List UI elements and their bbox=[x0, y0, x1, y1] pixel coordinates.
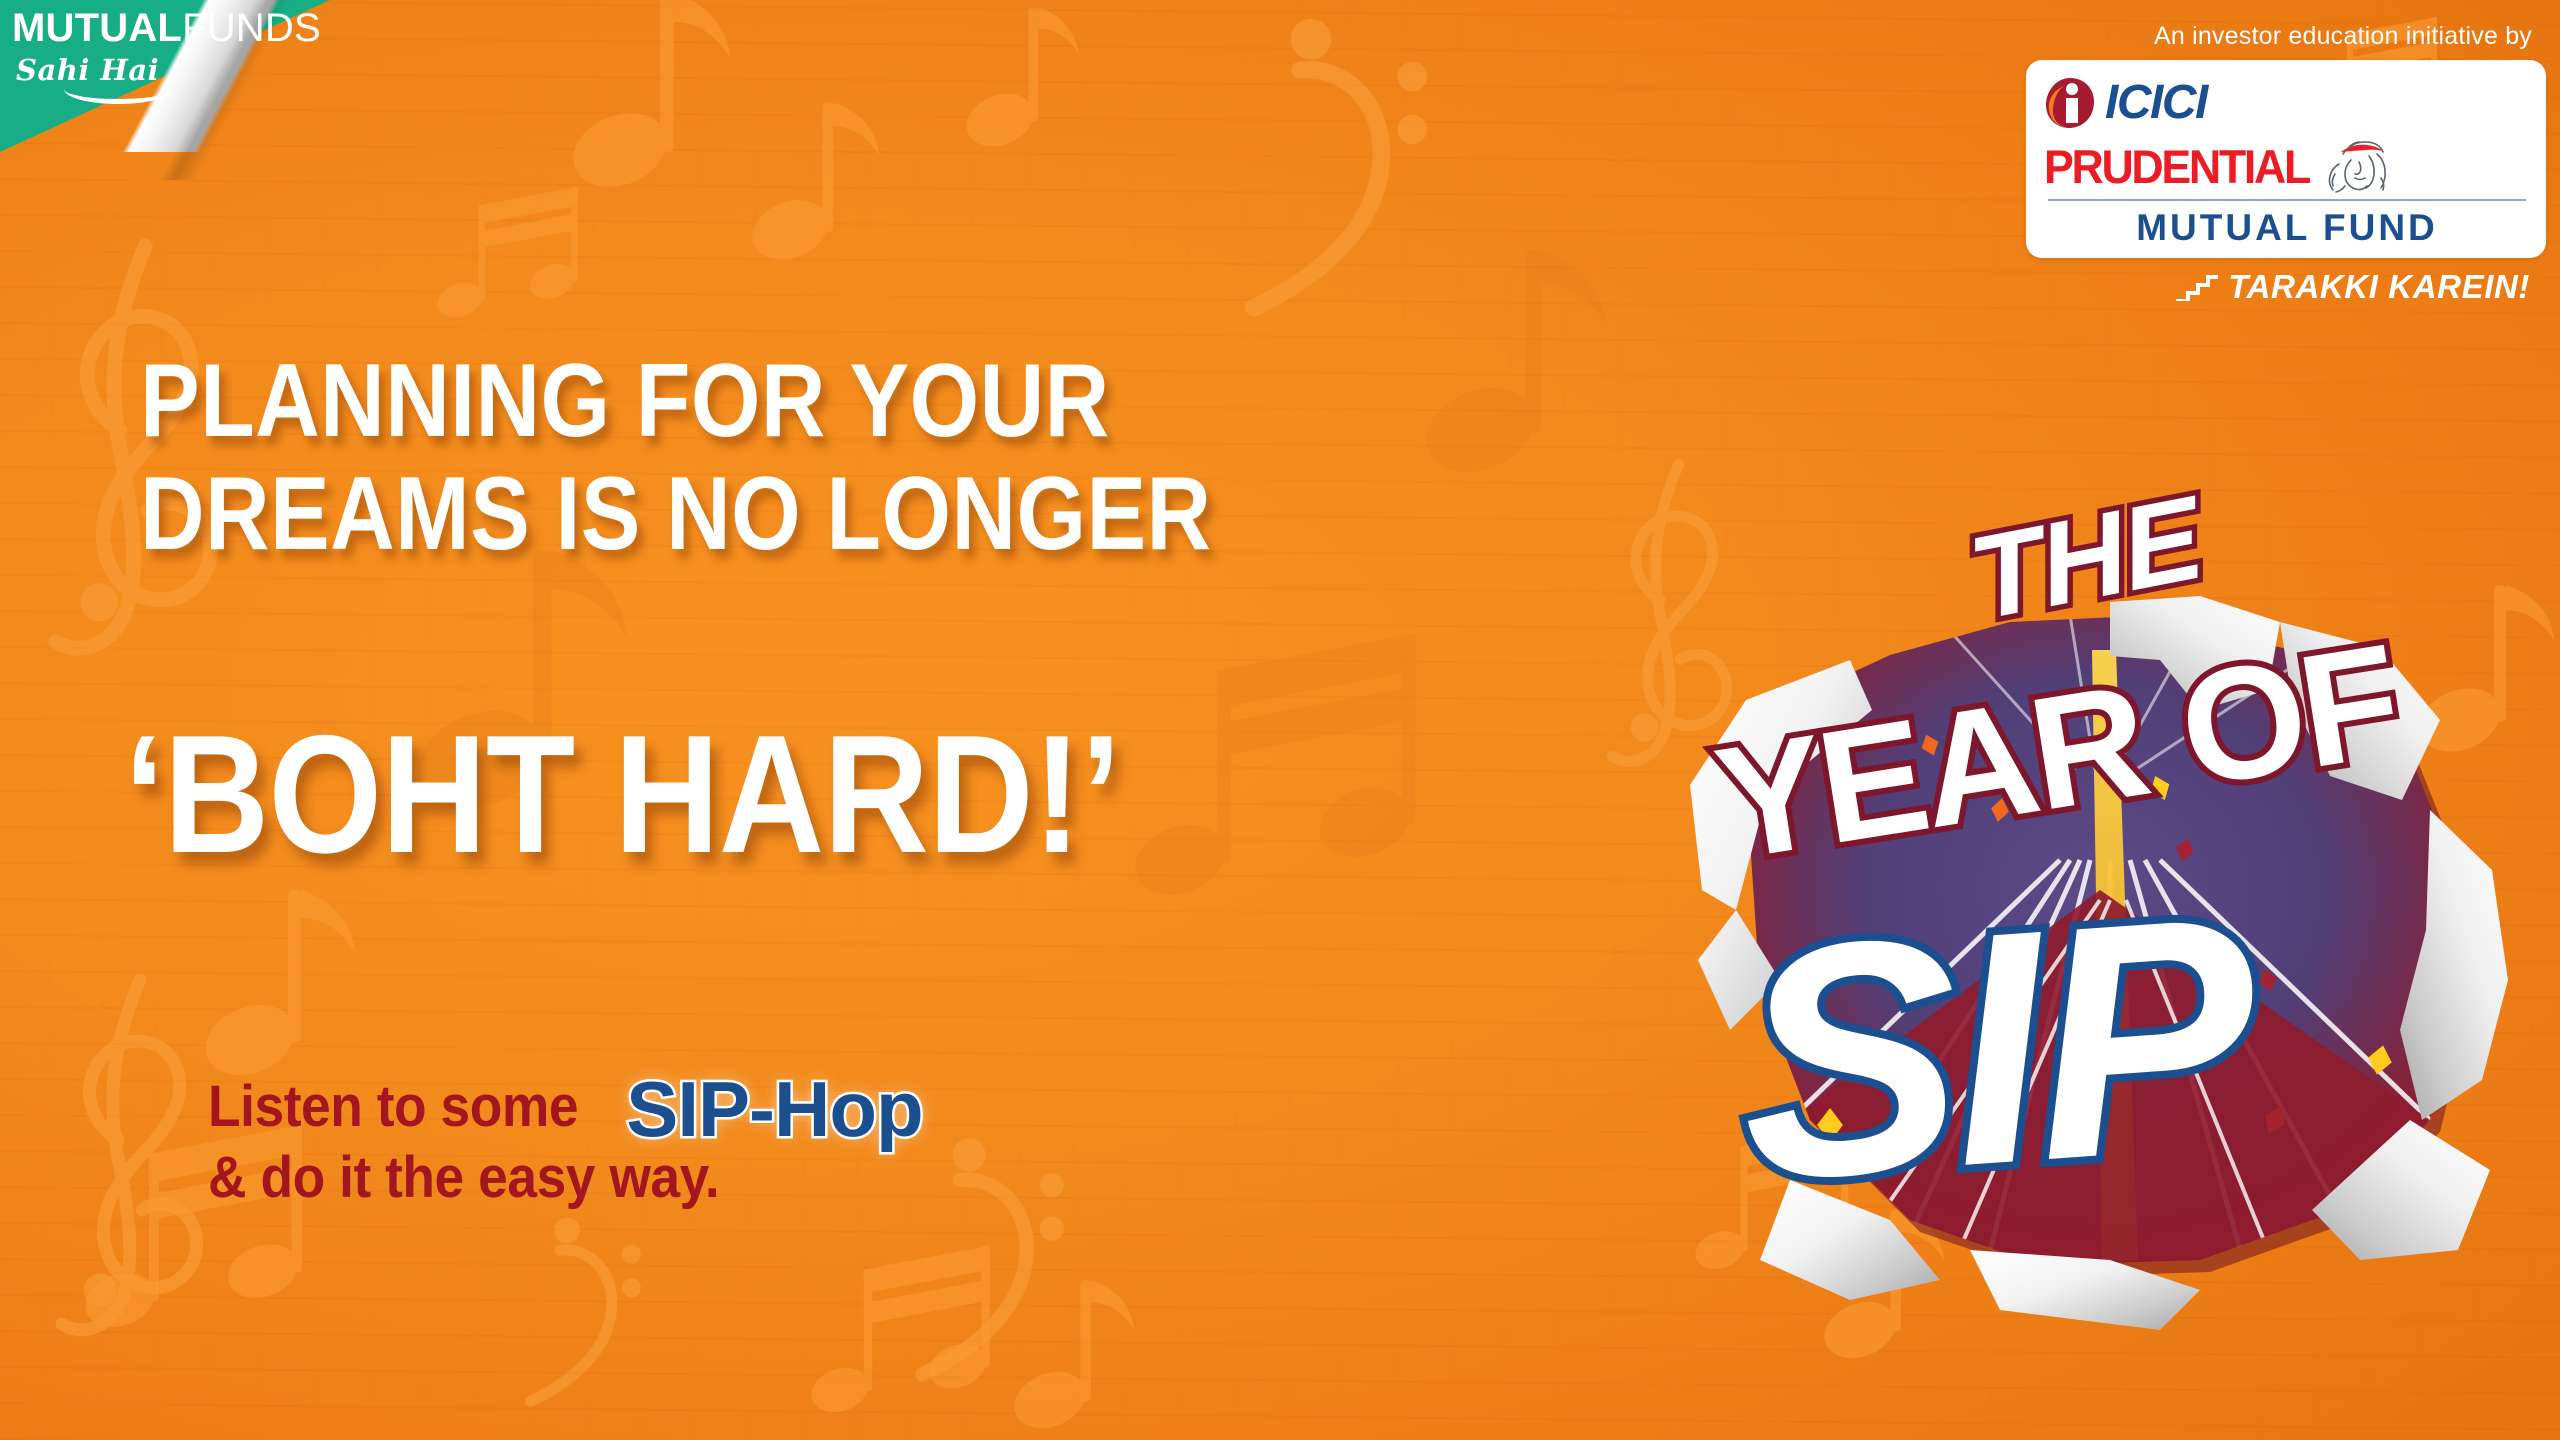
prudential-wordmark: PRUDENTIAL bbox=[2044, 143, 2309, 190]
headline-line-1: PLANNING FOR YOUR bbox=[140, 352, 1212, 451]
banner-root: MUTUALFUNDS Sahi Hai An investor educati… bbox=[0, 0, 2560, 1440]
subtitle-tail: & do it the easy way. bbox=[208, 1147, 719, 1208]
icici-row: ICICI bbox=[2044, 74, 2530, 132]
logo-funds: FUNDS bbox=[182, 6, 321, 50]
tarakki-tagline: TARAKKI KAREIN! bbox=[2228, 268, 2530, 306]
stair-step-icon bbox=[2174, 273, 2220, 301]
mutual-funds-sahi-hai-logo: MUTUALFUNDS Sahi Hai bbox=[12, 8, 312, 85]
badge-word-sip: SIP bbox=[1727, 846, 2269, 1250]
subtitle-line-1: Listen to someSIP-Hop bbox=[208, 1058, 923, 1141]
icici-wordmark: ICICI bbox=[2105, 79, 2207, 127]
logo-mutual: MUTUAL bbox=[12, 6, 182, 50]
prudential-rock-icon bbox=[2319, 134, 2393, 196]
logo-divider bbox=[2048, 199, 2526, 201]
sponsor-caption: An investor education initiative by bbox=[2026, 22, 2532, 51]
prudential-row: PRUDENTIAL bbox=[2044, 134, 2530, 190]
year-of-sip-badge: THE YEAR OF SIP bbox=[1640, 560, 2540, 1300]
torn-paper-burst-icon: THE YEAR OF SIP bbox=[1640, 560, 2540, 1300]
headline-emphasis: ‘BOHT HARD!’ bbox=[124, 710, 1120, 878]
sponsor-logo-card: ICICI PRUDENTIAL bbox=[2026, 60, 2546, 258]
headline-block: PLANNING FOR YOUR DREAMS IS NO LONGER bbox=[140, 352, 1386, 564]
subtitle-highlight: SIP-Hop bbox=[626, 1068, 922, 1151]
headline-line-2: DREAMS IS NO LONGER bbox=[140, 465, 1212, 564]
logo-wordmark: MUTUALFUNDS bbox=[12, 8, 312, 48]
logo-tagline: Sahi Hai bbox=[16, 56, 312, 85]
subtitle-block: Listen to someSIP-Hop & do it the easy w… bbox=[208, 1058, 923, 1208]
icici-i-mark-icon bbox=[2044, 76, 2096, 130]
tarakki-tagline-row: TARAKKI KAREIN! bbox=[2026, 268, 2530, 306]
sponsor-logo-block: An investor education initiative by ICIC… bbox=[2026, 22, 2546, 306]
subtitle-lead: Listen to some bbox=[208, 1076, 578, 1137]
mutual-fund-label: MUTUAL FUND bbox=[2044, 209, 2530, 246]
subtitle-line-2: & do it the easy way. bbox=[208, 1147, 923, 1208]
